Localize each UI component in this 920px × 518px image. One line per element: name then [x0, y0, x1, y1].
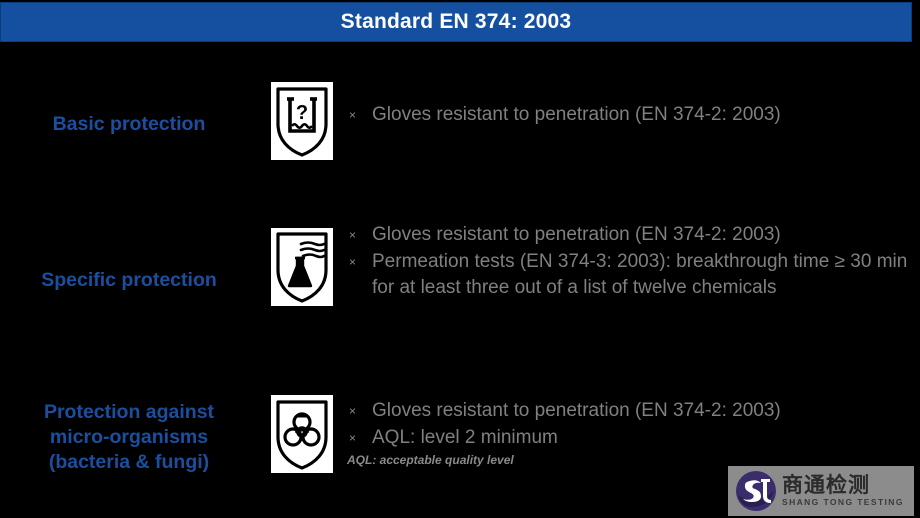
row-label-basic-protection: Basic protection [0, 78, 258, 137]
shield-flask-fumes-pictogram [271, 228, 333, 306]
row-microorganism-protection: Protection against micro-organisms (bact… [0, 388, 920, 475]
shield-biohazard-pictogram [271, 395, 333, 473]
row-specific-protection: Specific protection × Gloves resistant t… [0, 222, 920, 306]
shield-beaker-question-pictogram: ? [271, 82, 333, 160]
slide-root: Standard EN 374: 2003 Basic protection ?… [0, 0, 920, 518]
bullet-item: × Gloves resistant to penetration (EN 37… [346, 398, 914, 424]
bullet-list-biohazard: × Gloves resistant to penetration (EN 37… [346, 388, 920, 467]
bullet-marker-icon: × [346, 425, 372, 451]
bullet-item: × Gloves resistant to penetration (EN 37… [346, 102, 914, 128]
row-label-line: micro-organisms [6, 425, 252, 450]
row-label-specific-protection: Specific protection [0, 222, 258, 293]
row-label-microorganism-protection: Protection against micro-organisms (bact… [0, 388, 258, 475]
svg-text:?: ? [296, 102, 308, 124]
header-banner: Standard EN 374: 2003 [0, 2, 912, 42]
row-basic-protection: Basic protection ? × Gloves resistant to… [0, 78, 920, 160]
bullet-marker-icon: × [346, 222, 372, 248]
bullet-list-basic: × Gloves resistant to penetration (EN 37… [346, 78, 920, 129]
bullet-text: Gloves resistant to penetration (EN 374-… [372, 102, 914, 128]
logo-english-name: SHANG TONG TESTING [782, 497, 904, 508]
company-logo: 商通检测 SHANG TONG TESTING [728, 466, 914, 516]
row-label-line: (bacteria & fungi) [6, 450, 252, 475]
bullet-text: Gloves resistant to penetration (EN 374-… [372, 222, 914, 248]
bullet-marker-icon: × [346, 398, 372, 424]
bullet-text: AQL: level 2 minimum [372, 425, 914, 451]
row-label-line: Protection against [6, 400, 252, 425]
pictogram-cell-basic: ? [258, 78, 346, 160]
logo-chinese-name: 商通检测 [782, 474, 904, 497]
bullet-marker-icon: × [346, 249, 372, 275]
pictogram-cell-specific [258, 222, 346, 306]
bullet-text: Permeation tests (EN 374-3: 2003): break… [372, 249, 914, 301]
page-title: Standard EN 374: 2003 [341, 10, 572, 34]
bullet-marker-icon: × [346, 102, 372, 128]
footnote-aql: AQL: acceptable quality level [346, 453, 914, 467]
bullet-list-specific: × Gloves resistant to penetration (EN 37… [346, 222, 920, 302]
bullet-text: Gloves resistant to penetration (EN 374-… [372, 398, 914, 424]
bullet-item: × AQL: level 2 minimum [346, 425, 914, 451]
pictogram-cell-biohazard [258, 388, 346, 473]
bullet-item: × Gloves resistant to penetration (EN 37… [346, 222, 914, 248]
shangtong-emblem-icon [734, 469, 778, 513]
logo-text-block: 商通检测 SHANG TONG TESTING [782, 474, 904, 508]
bullet-item: × Permeation tests (EN 374-3: 2003): bre… [346, 249, 914, 301]
